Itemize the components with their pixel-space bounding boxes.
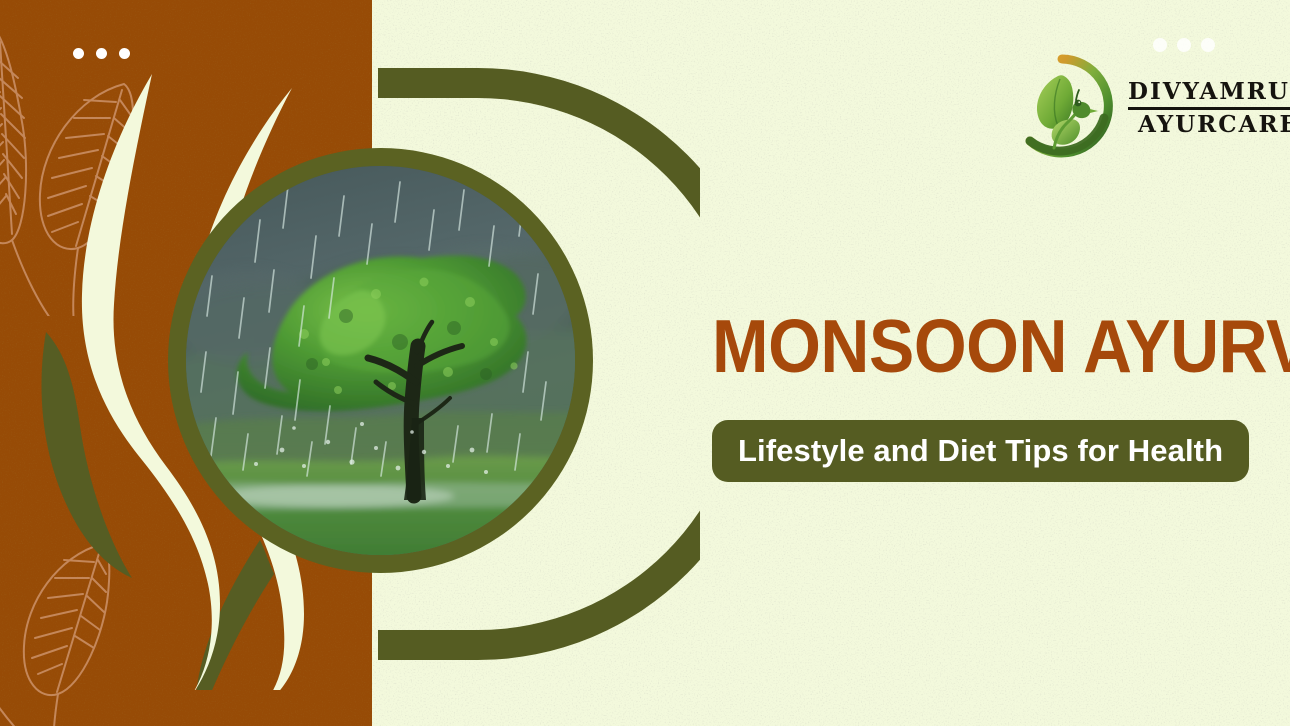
brand-logo[interactable]: DIVYAMRUT AYURCARE bbox=[1008, 50, 1258, 162]
decorative-dots-group bbox=[73, 48, 130, 59]
subtitle-text: Lifestyle and Diet Tips for Health bbox=[738, 433, 1223, 469]
brand-logo-text: DIVYAMRUT AYURCARE bbox=[1128, 75, 1290, 138]
dot-icon bbox=[73, 48, 84, 59]
page-title: MONSOON AYURVEDA bbox=[712, 312, 1219, 381]
circular-photo-medallion bbox=[168, 148, 593, 573]
dot-icon bbox=[119, 48, 130, 59]
brand-name-line2: AYURCARE bbox=[1128, 112, 1290, 138]
dot-icon bbox=[96, 48, 107, 59]
leaf-circle-emblem-icon bbox=[1008, 52, 1116, 160]
leaf-line-art-icon bbox=[0, 26, 153, 316]
medallion-photo-frame bbox=[186, 166, 575, 555]
brand-divider bbox=[1128, 107, 1290, 110]
subtitle-badge: Lifestyle and Diet Tips for Health bbox=[712, 420, 1249, 482]
brand-name-line1: DIVYAMRUT bbox=[1128, 79, 1290, 105]
poster-canvas: DIVYAMRUT AYURCARE MONSOON AYURVEDA Life… bbox=[0, 0, 1290, 726]
rainy-tree-photo bbox=[186, 166, 575, 555]
leaf-line-art-icon bbox=[0, 470, 157, 726]
